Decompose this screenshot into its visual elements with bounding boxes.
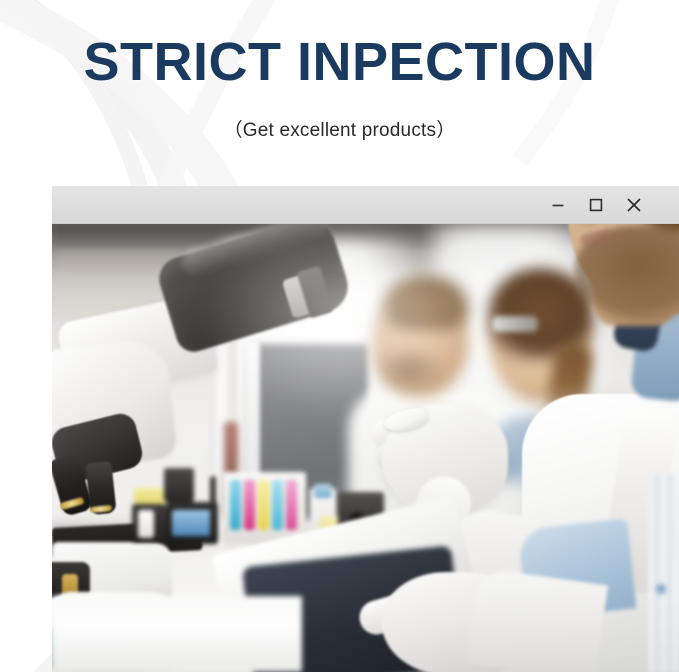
photo-ink-yellow xyxy=(258,480,269,530)
page-title: STRICT INPECTION xyxy=(0,0,679,91)
photo-blue-accent xyxy=(656,584,666,594)
photo-technician-male-hair xyxy=(382,274,470,330)
photo-ink-magenta xyxy=(244,480,255,530)
window-maximize-button[interactable] xyxy=(581,190,611,220)
photo-window-blinds xyxy=(648,474,679,672)
photo-composition xyxy=(52,224,679,672)
lab-inspection-photo xyxy=(52,224,679,672)
photo-ink-magenta-2 xyxy=(286,480,297,530)
app-window xyxy=(52,186,679,672)
photo-cartridge-blue-cap xyxy=(314,484,332,498)
photo-technician-female-glasses xyxy=(492,316,538,332)
window-close-button[interactable] xyxy=(619,190,649,220)
window-titlebar[interactable] xyxy=(52,186,679,224)
minimize-icon xyxy=(550,197,566,213)
photo-bench-front xyxy=(52,596,302,672)
photo-cartridge-separator xyxy=(210,476,216,538)
photo-technician-male-beard xyxy=(374,350,444,392)
photo-second-glove-wrist xyxy=(466,567,608,672)
photo-cartridge-label xyxy=(138,510,154,538)
window-minimize-button[interactable] xyxy=(543,190,573,220)
promo-banner: STRICT INPECTION （Get excellent products… xyxy=(0,0,679,672)
close-icon xyxy=(625,196,643,214)
banner-header: STRICT INPECTION （Get excellent products… xyxy=(0,0,679,186)
page-subtitle: （Get excellent products） xyxy=(0,91,679,142)
maximize-icon xyxy=(588,197,604,213)
photo-cartridge-blue-face xyxy=(172,510,212,536)
photo-cartridge-dark xyxy=(164,468,194,502)
photo-ink-cyan-2 xyxy=(272,480,283,530)
photo-ink-cyan xyxy=(230,480,241,530)
